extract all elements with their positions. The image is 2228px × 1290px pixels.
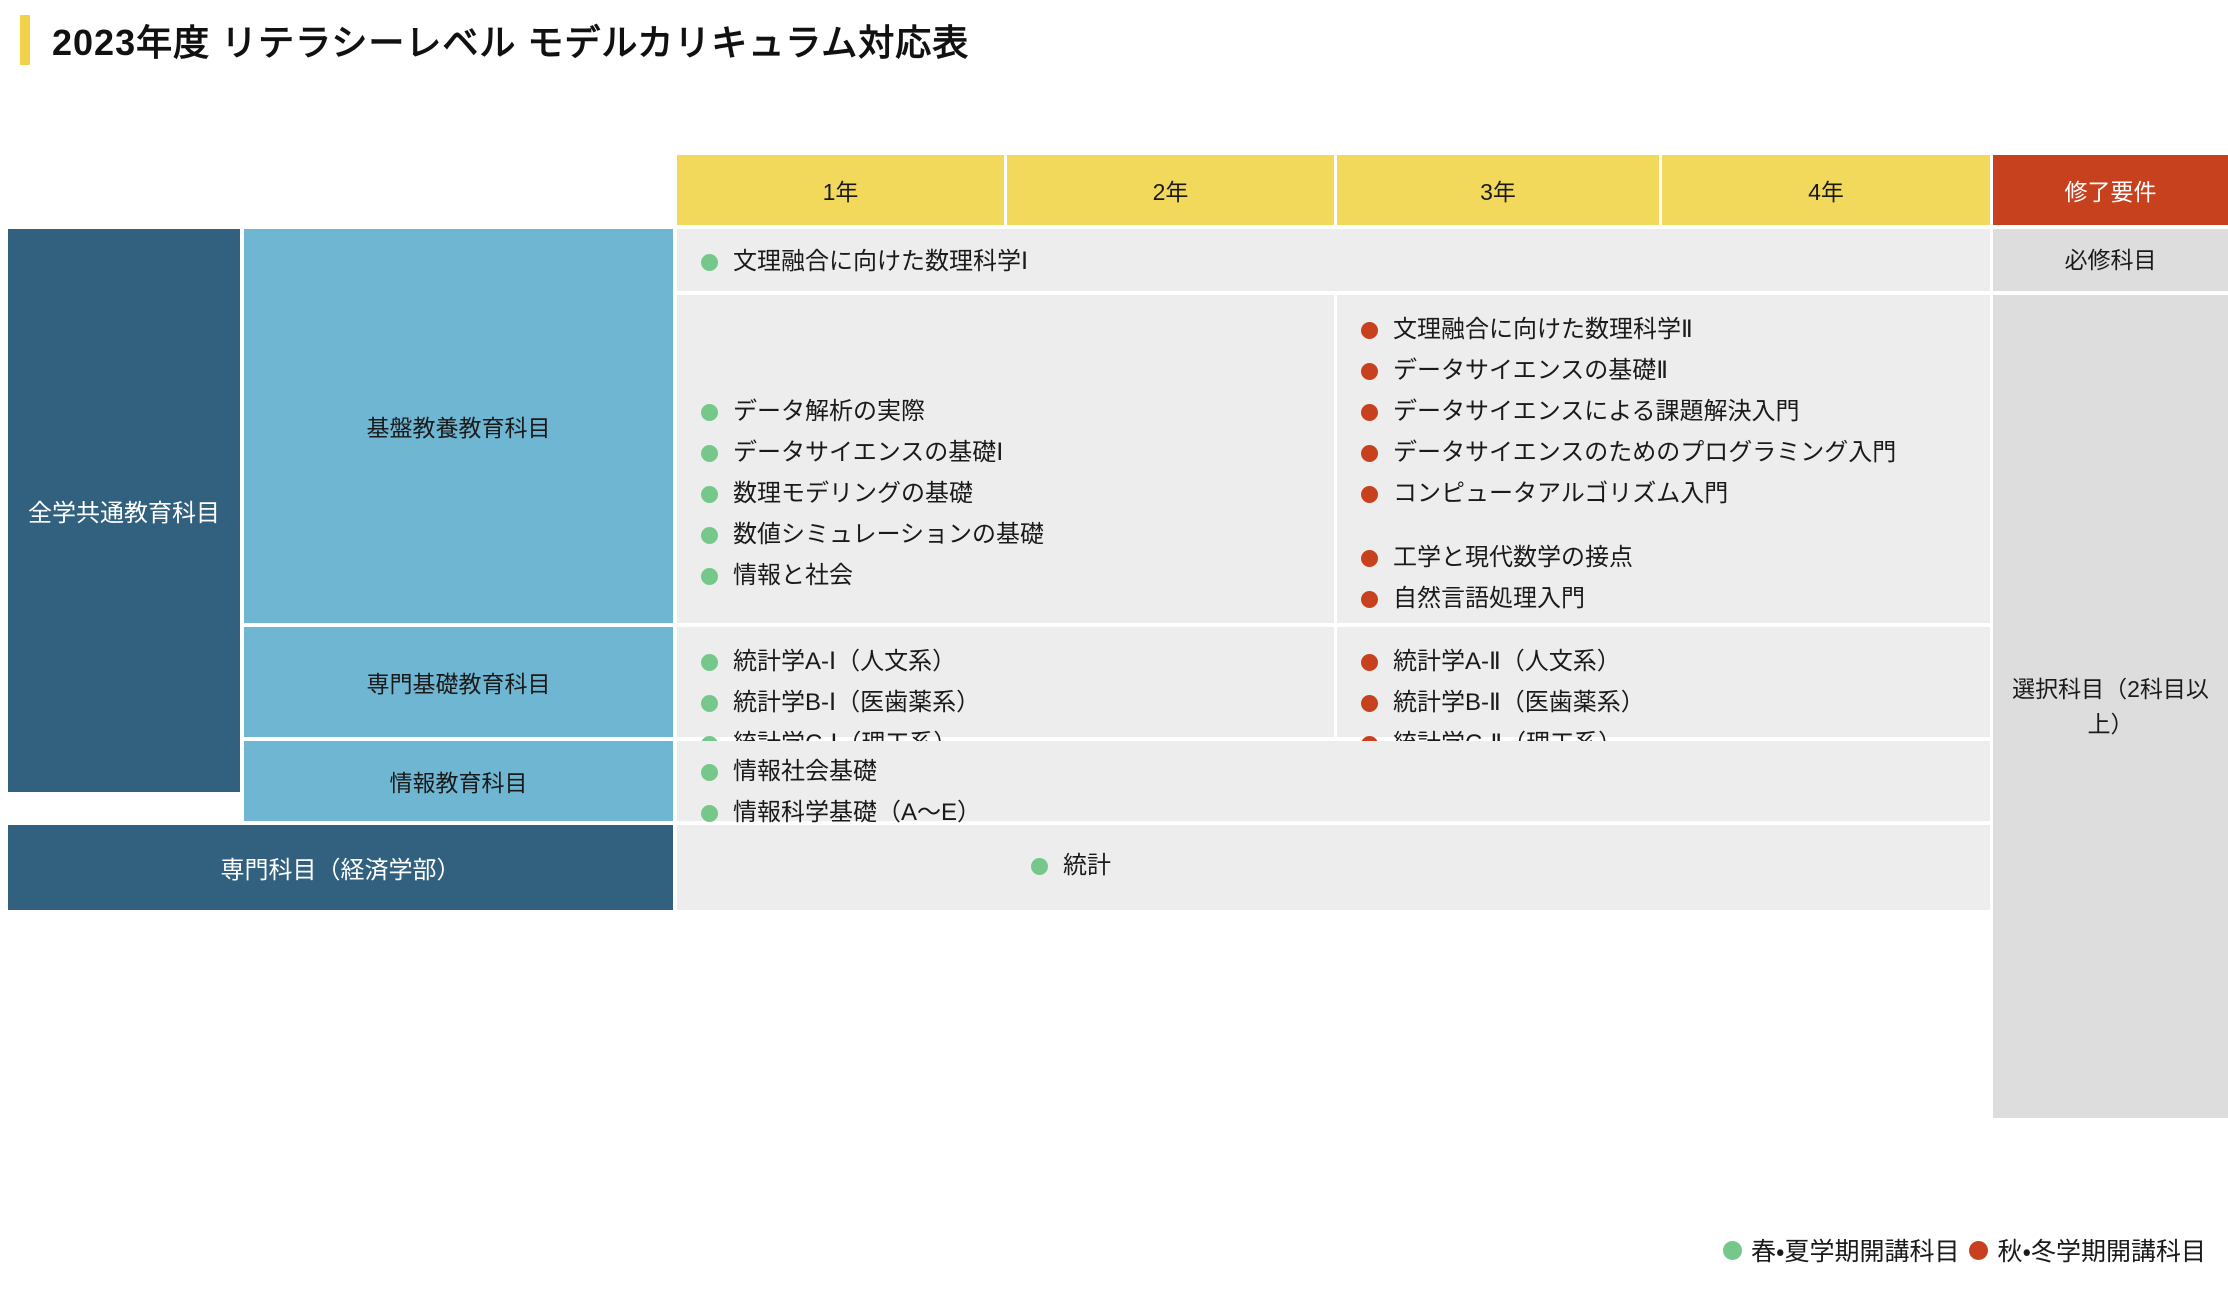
autumn-term-dot-icon — [1361, 486, 1378, 503]
page-title-block: 2023年度 リテラシーレベル モデルカリキュラム対応表 — [20, 14, 969, 66]
autumn-term-dot-icon — [1361, 591, 1378, 608]
courses-foundation-year1: データ解析の実際データサイエンスの基礎Ⅰ数理モデリングの基礎数値シミュレーション… — [677, 295, 1334, 623]
courses-specialized-basic-year1: 統計学A-Ⅰ（人文系）統計学B-Ⅰ（医歯薬系）統計学C-Ⅰ（理工系） — [677, 627, 1334, 737]
course-name: 情報と社会 — [733, 562, 853, 589]
spring-term-dot-icon — [701, 486, 718, 503]
spring-term-dot-icon — [701, 254, 718, 271]
legend-label-autumn: 秋・冬学期開講科目 — [1997, 1232, 2206, 1268]
spring-term-dot-icon — [701, 404, 718, 421]
course-name: データサイエンスの基礎Ⅰ — [733, 439, 1003, 466]
course-list-foundation-year1: データ解析の実際データサイエンスの基礎Ⅰ数理モデリングの基礎数値シミュレーション… — [699, 395, 1312, 593]
courses-required-row: 文理融合に向けた数理科学Ⅰ — [677, 229, 1990, 291]
course-name: 統計学B-Ⅱ（医歯薬系） — [1393, 689, 1645, 716]
curriculum-table: 1年 2年 3年 4年 修了要件 全学共通教育科目 基盤教養教育科目 専門基礎教… — [0, 155, 2228, 1190]
spring-term-dot-icon — [701, 568, 718, 585]
course-item: 統計 — [1029, 849, 1968, 882]
course-item: 統計学B-Ⅱ（医歯薬系） — [1359, 686, 1968, 719]
autumn-term-dot-icon — [1361, 550, 1378, 567]
course-item: 統計学A-Ⅱ（人文系） — [1359, 645, 1968, 678]
course-name: データサイエンスによる課題解決入門 — [1393, 398, 1800, 425]
autumn-term-dot-icon — [1361, 445, 1378, 462]
course-list-economics-year2: 統計 — [1029, 849, 1968, 882]
column-header-year-2: 2年 — [1007, 155, 1334, 225]
course-list-required-year1: 文理融合に向けた数理科学Ⅰ — [699, 245, 1968, 278]
course-item: データ解析の実際 — [699, 395, 1312, 428]
course-item: 数理モデリングの基礎 — [699, 477, 1312, 510]
autumn-term-dot-icon — [1361, 654, 1378, 671]
course-name: 工学と現代数学の接点 — [1393, 544, 1633, 571]
legend-item-autumn: 秋・冬学期開講科目 — [1969, 1232, 2206, 1268]
autumn-term-dot-icon — [1361, 695, 1378, 712]
course-item: 工学と現代数学の接点 — [1359, 541, 1968, 574]
spring-term-dot-icon — [701, 445, 718, 462]
category-specialized-basic: 専門基礎教育科目 — [244, 627, 673, 737]
course-name: データサイエンスの基礎Ⅱ — [1393, 357, 1668, 384]
course-item: データサイエンスの基礎Ⅰ — [699, 436, 1312, 469]
courses-foundation-year3: 文理融合に向けた数理科学Ⅱデータサイエンスの基礎Ⅱデータサイエンスによる課題解決… — [1337, 295, 1990, 623]
course-name: 数値シミュレーションの基礎 — [733, 521, 1044, 548]
course-item: 自然言語処理入門 — [1359, 582, 1968, 615]
title-accent-bar — [20, 15, 30, 65]
course-item: コンピュータアルゴリズム入門 — [1359, 477, 1968, 510]
course-name: 情報社会基礎 — [733, 758, 877, 785]
requirement-required: 必修科目 — [1993, 229, 2228, 291]
course-item: 情報と社会 — [699, 559, 1312, 592]
course-name: 文理融合に向けた数理科学Ⅰ — [733, 248, 1028, 275]
category-common-education: 全学共通教育科目 — [8, 229, 240, 792]
courses-informatics-year1: 情報社会基礎情報科学基礎（A〜E） — [677, 741, 1990, 821]
course-name: データサイエンスのためのプログラミング入門 — [1393, 439, 1896, 466]
spring-term-dot-icon — [1031, 858, 1048, 875]
category-informatics-education: 情報教育科目 — [244, 741, 673, 821]
course-item: データサイエンスの基礎Ⅱ — [1359, 354, 1968, 387]
course-name: 情報科学基礎（A〜E） — [733, 799, 981, 826]
courses-specialized-basic-year3: 統計学A-Ⅱ（人文系）統計学B-Ⅱ（医歯薬系）統計学C-Ⅱ（理工系） — [1337, 627, 1990, 737]
category-economics-specialized: 専門科目（経済学部） — [8, 825, 673, 910]
course-item: 統計学A-Ⅰ（人文系） — [699, 645, 1312, 678]
legend-item-spring: 春・夏学期開講科目 — [1723, 1232, 1960, 1268]
course-name: コンピュータアルゴリズム入門 — [1393, 480, 1728, 507]
legend: 春・夏学期開講科目 秋・冬学期開講科目 — [1723, 1232, 2206, 1268]
course-list-foundation-year3: 文理融合に向けた数理科学Ⅱデータサイエンスの基礎Ⅱデータサイエンスによる課題解決… — [1359, 313, 1968, 615]
course-item: データサイエンスのためのプログラミング入門 — [1359, 436, 1968, 469]
spring-term-dot-icon — [701, 805, 718, 822]
course-name: 統計学A-Ⅱ（人文系） — [1393, 648, 1621, 675]
category-foundation-liberal-arts: 基盤教養教育科目 — [244, 229, 673, 623]
course-name: データ解析の実際 — [733, 398, 925, 425]
course-name: 自然言語処理入門 — [1393, 585, 1585, 612]
course-item: 統計学B-Ⅰ（医歯薬系） — [699, 686, 1312, 719]
column-header-requirement: 修了要件 — [1993, 155, 2228, 225]
spring-term-dot-icon — [701, 654, 718, 671]
course-item: データサイエンスによる課題解決入門 — [1359, 395, 1968, 428]
column-header-year-4: 4年 — [1662, 155, 1990, 225]
autumn-term-dot-icon — [1969, 1241, 1988, 1260]
course-name: 統計学A-Ⅰ（人文系） — [733, 648, 956, 675]
page-title: 2023年度 リテラシーレベル モデルカリキュラム対応表 — [52, 14, 969, 66]
course-list-spacer — [1359, 519, 1968, 541]
course-name: 統計学B-Ⅰ（医歯薬系） — [733, 689, 980, 716]
spring-term-dot-icon — [701, 764, 718, 781]
column-header-year-3: 3年 — [1337, 155, 1659, 225]
spring-term-dot-icon — [701, 695, 718, 712]
course-name: 文理融合に向けた数理科学Ⅱ — [1393, 316, 1693, 343]
courses-economics-year2: 統計 — [677, 825, 1990, 910]
course-item: 数値シミュレーションの基礎 — [699, 518, 1312, 551]
autumn-term-dot-icon — [1361, 404, 1378, 421]
course-list-informatics-year1: 情報社会基礎情報科学基礎（A〜E） — [699, 755, 1968, 829]
course-name: 統計 — [1063, 852, 1111, 879]
course-item: 文理融合に向けた数理科学Ⅱ — [1359, 313, 1968, 346]
course-item: 情報社会基礎 — [699, 755, 1968, 788]
course-item: 文理融合に向けた数理科学Ⅰ — [699, 245, 1968, 278]
spring-term-dot-icon — [701, 527, 718, 544]
legend-label-spring: 春・夏学期開講科目 — [1751, 1232, 1960, 1268]
course-name: 数理モデリングの基礎 — [733, 480, 973, 507]
autumn-term-dot-icon — [1361, 363, 1378, 380]
spring-term-dot-icon — [1723, 1241, 1742, 1260]
requirement-elective: 選択科目（2科目以上） — [1993, 295, 2228, 1118]
column-header-year-1: 1年 — [677, 155, 1004, 225]
autumn-term-dot-icon — [1361, 322, 1378, 339]
